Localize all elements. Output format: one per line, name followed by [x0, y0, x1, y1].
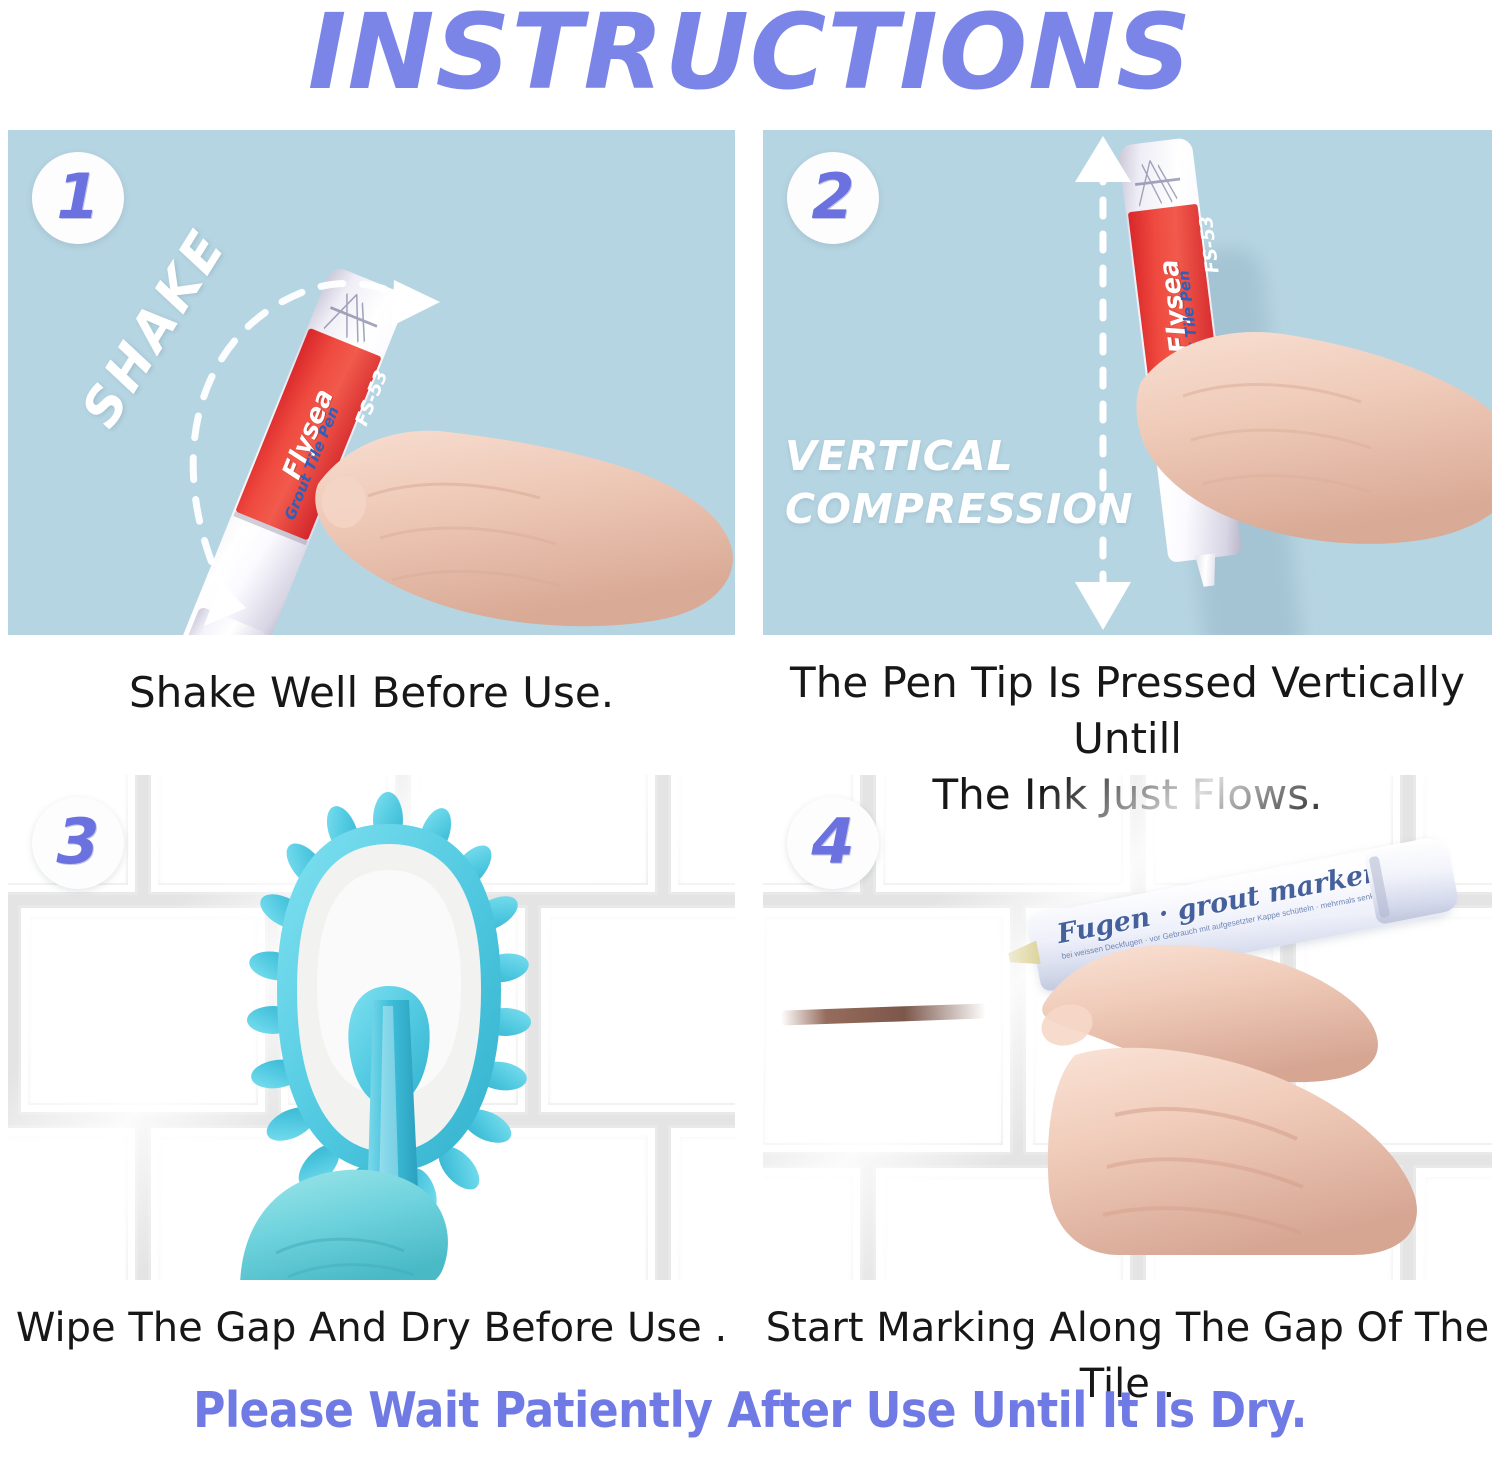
caption-step-3: Wipe The Gap And Dry Before Use .	[8, 1300, 735, 1356]
step-badge-3: 3	[32, 797, 124, 889]
step-badge-2: 2	[787, 152, 879, 244]
vc-line-1: VERTICAL	[785, 430, 1133, 483]
hand-illustration	[1023, 885, 1453, 1255]
step-badge-4: 4	[787, 797, 879, 889]
page-title: INSTRUCTIONS	[0, 0, 1500, 108]
step-panel-3: 3	[8, 775, 735, 1280]
vertical-compression-label: VERTICAL COMPRESSION	[785, 430, 1133, 536]
caption-step-1: Shake Well Before Use.	[8, 665, 735, 721]
gloved-hand-illustration	[236, 1143, 456, 1280]
step-panel-4: Fugen · grout marker bei weissen Deckfug…	[763, 775, 1492, 1280]
step-number-4: 4	[787, 797, 879, 889]
step-panel-2: Flysea FS-53 Grout Tile Pen	[763, 130, 1492, 635]
step-panel-1: SHAKE Flysea FS-53 Grout Tile Pen	[8, 130, 735, 635]
footer-note: Please Wait Patiently After Use Until It…	[0, 1382, 1500, 1439]
step-number-2: 2	[787, 152, 879, 244]
instructions-infographic: INSTRUCTIONS SHAKE Flysea FS-53 Grout Ti…	[0, 0, 1500, 1466]
step-badge-1: 1	[32, 152, 124, 244]
caption-step-2-line-1: The Pen Tip Is Pressed Vertically Untill	[763, 655, 1492, 767]
step-number-1: 1	[32, 152, 124, 244]
step-number-3: 3	[32, 797, 124, 889]
vc-line-2: COMPRESSION	[785, 483, 1133, 536]
